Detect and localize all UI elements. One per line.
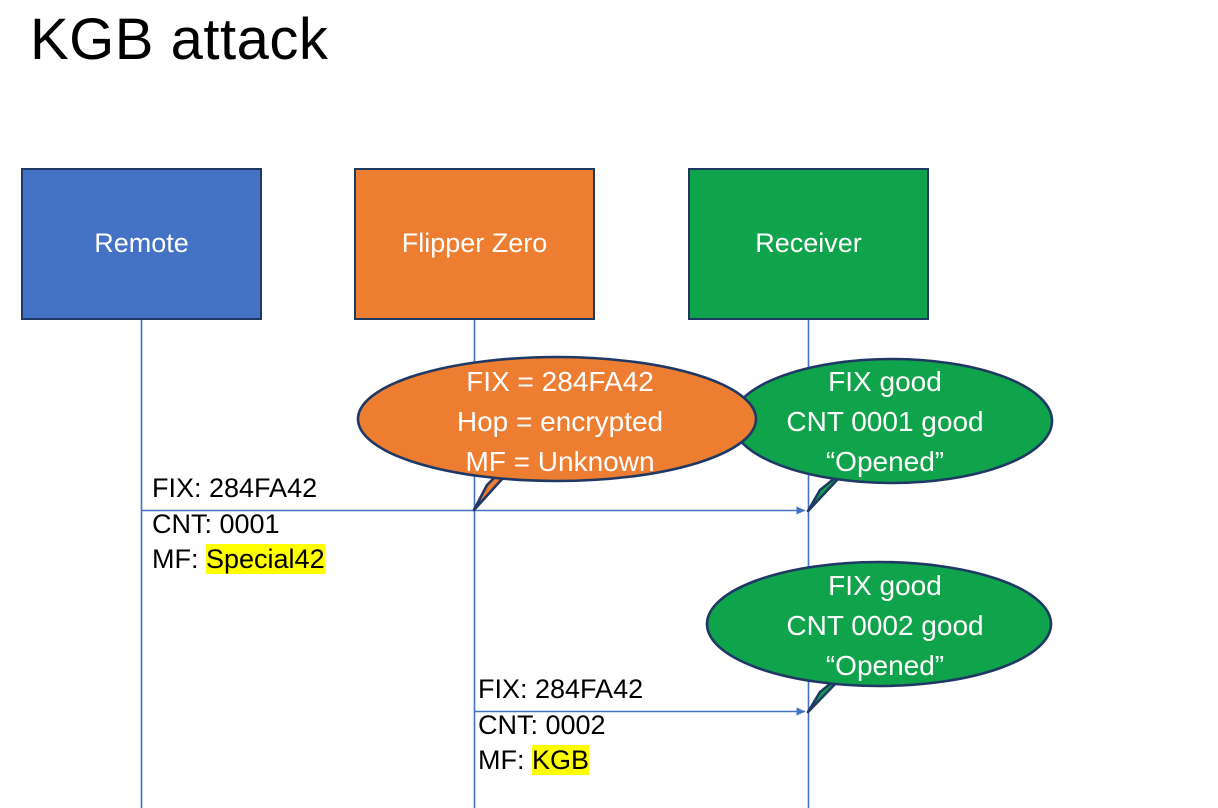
callout-line-2: CNT 0001 good — [745, 402, 1025, 442]
message-label-2: FIX: 284FA42 CNT: 0002 MF: KGB — [478, 672, 643, 779]
message-label-2-fix: FIX: 284FA42 — [478, 672, 643, 708]
actor-box-flipper[interactable]: Flipper Zero — [354, 168, 595, 320]
slide-canvas: KGB attack Remote — [0, 0, 1218, 808]
callout-line-2: Hop = encrypted — [400, 402, 720, 442]
callout-line-3: MF = Unknown — [400, 442, 720, 482]
message-label-1-mf: MF: Special42 — [152, 542, 325, 578]
message-label-1-cnt: CNT: 0001 — [152, 507, 325, 543]
actor-label-receiver: Receiver — [755, 228, 862, 259]
message-label-2-mf-prefix: MF: — [478, 745, 532, 775]
callout-line-1: FIX good — [745, 362, 1025, 402]
actor-label-remote: Remote — [94, 228, 189, 259]
message-label-2-cnt: CNT: 0002 — [478, 708, 643, 744]
message-label-1: FIX: 284FA42 CNT: 0001 MF: Special42 — [152, 471, 325, 578]
callout-line-1: FIX = 284FA42 — [400, 362, 720, 402]
callout-receiver-2-text: FIX good CNT 0002 good “Opened” — [745, 566, 1025, 685]
message-label-2-mf-value: KGB — [532, 745, 589, 775]
callout-line-1: FIX good — [745, 566, 1025, 606]
actor-box-receiver[interactable]: Receiver — [688, 168, 929, 320]
actor-box-remote[interactable]: Remote — [21, 168, 262, 320]
callout-receiver-1-text: FIX good CNT 0001 good “Opened” — [745, 362, 1025, 481]
callout-line-3: “Opened” — [745, 646, 1025, 686]
actor-label-flipper: Flipper Zero — [402, 228, 548, 259]
message-label-1-mf-value: Special42 — [206, 544, 325, 574]
message-label-2-mf: MF: KGB — [478, 743, 643, 779]
message-label-1-fix: FIX: 284FA42 — [152, 471, 325, 507]
callout-line-3: “Opened” — [745, 442, 1025, 482]
callout-flipper-capture-text: FIX = 284FA42 Hop = encrypted MF = Unkno… — [400, 362, 720, 481]
callout-line-2: CNT 0002 good — [745, 606, 1025, 646]
message-label-1-mf-prefix: MF: — [152, 544, 206, 574]
